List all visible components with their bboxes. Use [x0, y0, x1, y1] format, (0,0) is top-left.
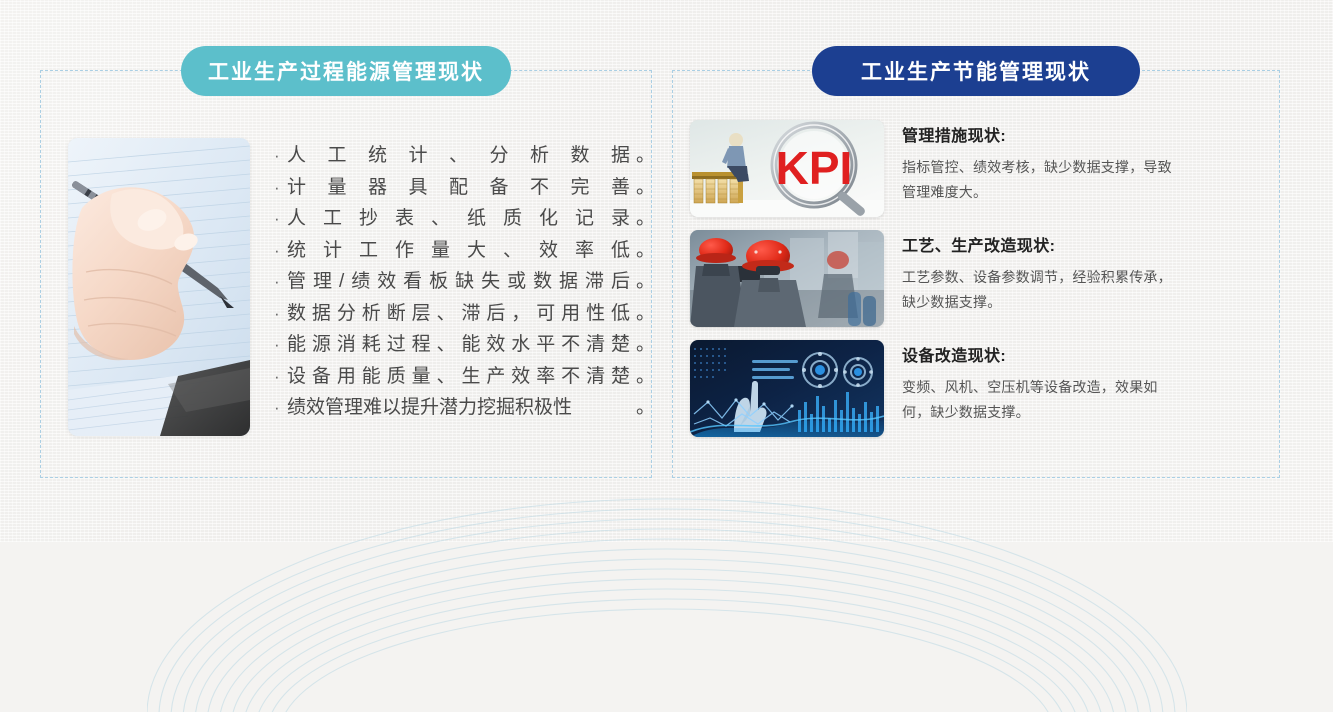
- bullet-end-mark: 。: [636, 172, 652, 204]
- bullet-text: 人工统计、分析数据: [287, 140, 636, 172]
- bullet-dot-icon: ·: [274, 329, 287, 361]
- bullet-dot-icon: ·: [274, 361, 287, 393]
- bullet-end-mark: 。: [636, 140, 652, 172]
- left-panel-title: 工业生产过程能源管理现状: [208, 56, 484, 86]
- list-item: · 绩效管理难以提升潜力挖掘积极性 。: [274, 392, 652, 424]
- item-title: 管理措施现状:: [902, 122, 1256, 146]
- list-item: 工艺、生产改造现状: 工艺参数、设备参数调节，经验积累传承，缺少数据支撑。: [690, 230, 1256, 327]
- bullet-dot-icon: ·: [274, 298, 287, 330]
- item-title: 工艺、生产改造现状:: [902, 232, 1256, 256]
- kpi-illustration: KPI: [690, 120, 884, 217]
- item-text-block: 工艺、生产改造现状: 工艺参数、设备参数调节，经验积累传承，缺少数据支撑。: [884, 230, 1256, 315]
- bullet-end-mark: 。: [636, 392, 652, 424]
- bullet-text: 统计工作量大、效率低: [287, 235, 636, 267]
- left-panel-body: · 人工统计、分析数据 。 · 计量器具配备不完善 。 · 人工抄表、纸质化记录…: [40, 70, 652, 478]
- item-description: 变频、风机、空压机等设备改造，效果如何，缺少数据支撑。: [902, 375, 1182, 425]
- item-title: 设备改造现状:: [902, 342, 1256, 366]
- kpi-magnifier-photo: KPI: [690, 120, 884, 217]
- bullet-dot-icon: ·: [274, 392, 287, 424]
- left-panel-bullet-list: · 人工统计、分析数据 。 · 计量器具配备不完善 。 · 人工抄表、纸质化记录…: [250, 138, 652, 424]
- list-item: · 人工统计、分析数据 。: [274, 140, 652, 172]
- factory-workers-helmets-photo: [690, 230, 884, 327]
- item-text-block: 管理措施现状: 指标管控、绩效考核，缺少数据支撑，导致管理难度大。: [884, 120, 1256, 205]
- list-item: · 管理/绩效看板缺失或数据滞后 。: [274, 266, 652, 298]
- list-item: KPI 管理措施现状: 指标管控、绩效考核，缺少数据支撑，导致管理难度大。: [690, 120, 1256, 217]
- bullet-text: 管理/绩效看板缺失或数据滞后: [287, 266, 636, 298]
- bullet-dot-icon: ·: [274, 235, 287, 267]
- left-panel-title-pill: 工业生产过程能源管理现状: [181, 46, 511, 96]
- list-item: 设备改造现状: 变频、风机、空压机等设备改造，效果如何，缺少数据支撑。: [690, 340, 1256, 437]
- bullet-dot-icon: ·: [274, 203, 287, 235]
- bullet-text: 设备用能质量、生产效率不清楚: [287, 361, 636, 393]
- svg-text:KPI: KPI: [776, 142, 853, 194]
- list-item: · 能源消耗过程、能效水平不清楚 。: [274, 329, 652, 361]
- bullet-text: 能源消耗过程、能效水平不清楚: [287, 329, 636, 361]
- list-item: · 数据分析断层、滞后，可用性低 。: [274, 298, 652, 330]
- bullet-end-mark: 。: [636, 361, 652, 393]
- right-panel-title: 工业生产节能管理现状: [861, 56, 1091, 86]
- bullet-end-mark: 。: [636, 298, 652, 330]
- digital-dashboard-photo: [690, 340, 884, 437]
- bullet-end-mark: 。: [636, 329, 652, 361]
- list-item: · 设备用能质量、生产效率不清楚 。: [274, 361, 652, 393]
- dashboard-illustration: [690, 340, 884, 437]
- bottom-decorative-arc: [147, 452, 1187, 712]
- bullet-text: 数据分析断层、滞后，可用性低: [287, 298, 636, 330]
- bullet-dot-icon: ·: [274, 172, 287, 204]
- bullet-end-mark: 。: [636, 235, 652, 267]
- bullet-end-mark: 。: [636, 266, 652, 298]
- workers-illustration: [690, 230, 884, 327]
- item-text-block: 设备改造现状: 变频、风机、空压机等设备改造，效果如何，缺少数据支撑。: [884, 340, 1256, 425]
- bullet-text: 人工抄表、纸质化记录: [287, 203, 636, 235]
- bullet-dot-icon: ·: [274, 266, 287, 298]
- right-panel-body: KPI 管理措施现状: 指标管控、绩效考核，缺少数据支撑，导致管理难度大。: [672, 70, 1280, 478]
- list-item: · 人工抄表、纸质化记录 。: [274, 203, 652, 235]
- bullet-text: 绩效管理难以提升潜力挖掘积极性: [287, 392, 636, 424]
- bullet-dot-icon: ·: [274, 140, 287, 172]
- hand-writing-illustration: [68, 138, 250, 436]
- list-item: · 统计工作量大、效率低 。: [274, 235, 652, 267]
- item-description: 工艺参数、设备参数调节，经验积累传承，缺少数据支撑。: [902, 265, 1182, 315]
- bullet-end-mark: 。: [636, 203, 652, 235]
- list-item: · 计量器具配备不完善 。: [274, 172, 652, 204]
- bullet-text: 计量器具配备不完善: [287, 172, 636, 204]
- concentric-arc-lines-icon: [147, 452, 1187, 712]
- item-description: 指标管控、绩效考核，缺少数据支撑，导致管理难度大。: [902, 155, 1182, 205]
- hand-writing-photo: [68, 138, 250, 436]
- right-panel-title-pill: 工业生产节能管理现状: [812, 46, 1140, 96]
